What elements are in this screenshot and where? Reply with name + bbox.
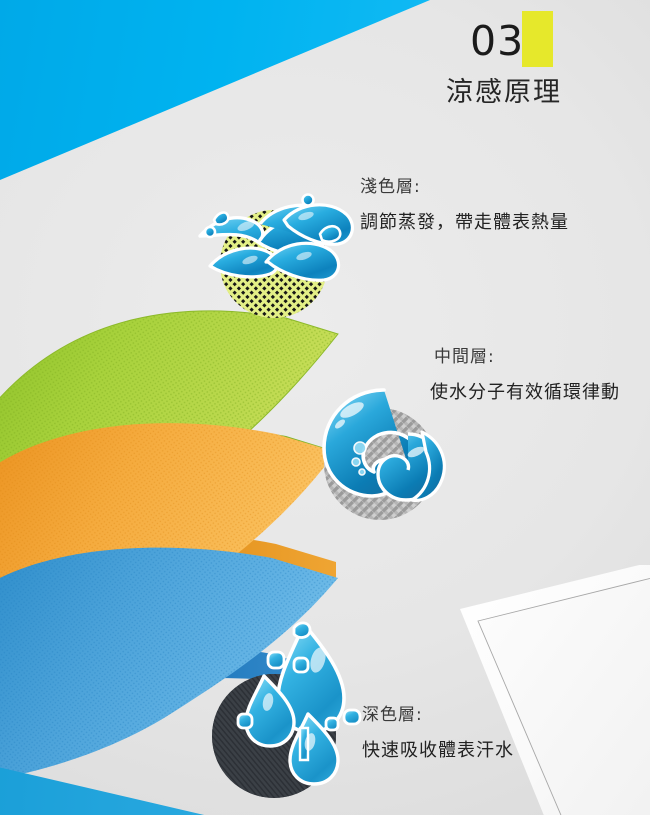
white-angled-sheet: [430, 565, 650, 815]
dark-layer-lead: 深色層:: [362, 700, 514, 725]
page-title: 涼感原理: [404, 70, 604, 109]
middle-layer-label: 中間層: 使水分子有效循環律動: [430, 342, 620, 404]
splash-droplets-on-twill-circle-icon: [208, 618, 372, 810]
middle-layer-lead: 中間層:: [434, 342, 620, 367]
light-layer-lead: 淺色層:: [360, 172, 569, 197]
dark-layer-body: 快速吸收體表汗水: [362, 736, 514, 762]
poster-canvas: 03 涼感原理: [0, 0, 650, 815]
section-number: 03: [470, 21, 610, 62]
dark-layer-label: 深色層: 快速吸收體表汗水: [362, 700, 514, 762]
light-layer-body: 調節蒸發，帶走體表熱量: [360, 208, 569, 234]
middle-layer-body: 使水分子有效循環律動: [430, 378, 620, 404]
blue-diagonal-banner: [0, 0, 430, 180]
header: 03 涼感原理: [404, 8, 604, 113]
light-layer-label: 淺色層: 調節蒸發，帶走體表熱量: [360, 172, 569, 234]
wave-droplets-on-dotted-circle-icon: [188, 176, 364, 318]
